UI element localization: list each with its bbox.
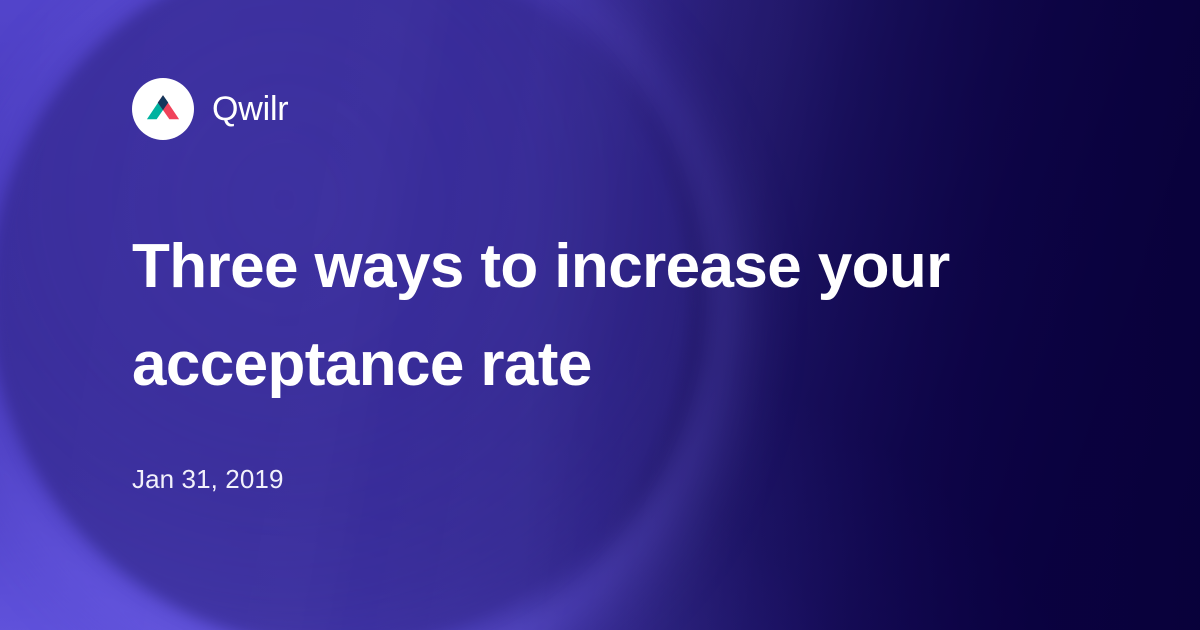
brand-lockup[interactable]: Qwilr bbox=[132, 78, 1200, 140]
card-content: Qwilr Three ways to increase your accept… bbox=[0, 0, 1200, 630]
logo-badge-circle-icon bbox=[132, 78, 194, 140]
publish-date: Jan 31, 2019 bbox=[132, 466, 1200, 492]
page-title-line-1: Three ways to increase your bbox=[132, 218, 1092, 316]
article-share-card: Qwilr Three ways to increase your accept… bbox=[0, 0, 1200, 630]
page-title: Three ways to increase your acceptance r… bbox=[132, 218, 1092, 414]
page-title-line-2: acceptance rate bbox=[132, 316, 1092, 414]
brand-name: Qwilr bbox=[212, 92, 288, 126]
qwilr-chevron-mark-icon bbox=[146, 93, 180, 125]
